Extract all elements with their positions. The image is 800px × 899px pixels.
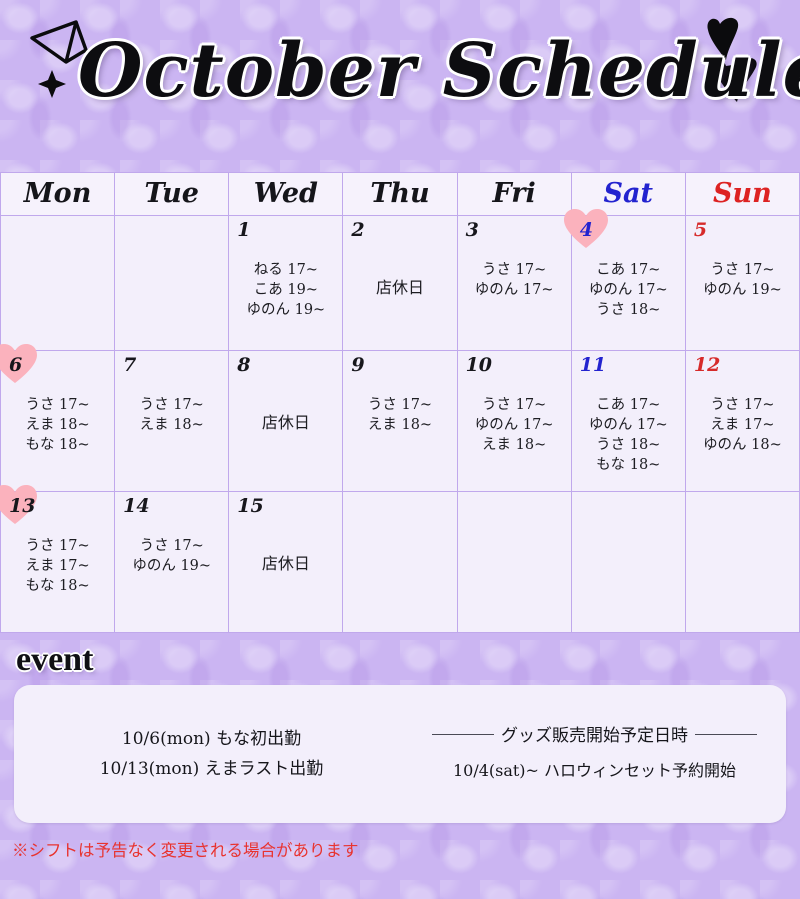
shift-entry: えま 18~: [458, 435, 571, 455]
calendar-week-row: 6うさ 17~えま 18~もな 18~7うさ 17~えま 18~8店休日9うさ …: [1, 351, 800, 492]
event-left-column: 10/6(mon) もな初出勤 10/13(mon) えまラスト出勤: [14, 724, 403, 784]
shift-entry: うさ 17~: [115, 536, 228, 556]
calendar-empty-cell: [1, 216, 115, 351]
shift-entry: ゆのん 17~: [458, 415, 571, 435]
day-number: 4: [580, 220, 593, 240]
shift-entry: ゆのん 17~: [572, 280, 685, 300]
shift-entry: うさ 17~: [115, 395, 228, 415]
shift-entry: うさ 17~: [343, 395, 456, 415]
rule-right-icon: [695, 734, 757, 735]
closed-text: 店休日: [229, 413, 342, 433]
shift-entry: こあ 17~: [572, 260, 685, 280]
shift-entry: ゆのん 17~: [458, 280, 571, 300]
day-header-mon: Mon: [1, 173, 115, 216]
shift-entry: うさ 17~: [1, 395, 114, 415]
shift-entry-list: こあ 17~ゆのん 17~うさ 18~もな 18~: [572, 395, 685, 475]
calendar-empty-cell: [115, 216, 229, 351]
day-number: 2: [351, 220, 364, 240]
header: October Schedule: [0, 0, 800, 172]
shift-entry: ゆのん 19~: [686, 280, 799, 300]
calendar-day-cell[interactable]: 14うさ 17~ゆのん 19~: [115, 492, 229, 633]
shift-entry: こあ 19~: [229, 280, 342, 300]
day-number: 12: [694, 355, 720, 375]
calendar-body: 1ねる 17~こあ 19~ゆのん 19~2店休日3うさ 17~ゆのん 17~4こ…: [1, 216, 800, 633]
calendar-week-row: 13うさ 17~えま 17~もな 18~14うさ 17~ゆのん 19~15店休日: [1, 492, 800, 633]
day-number: 6: [9, 355, 22, 375]
shift-entry: うさ 17~: [686, 260, 799, 280]
calendar-day-cell[interactable]: 8店休日: [229, 351, 343, 492]
shift-entry: ゆのん 17~: [572, 415, 685, 435]
shift-entry: うさ 18~: [572, 300, 685, 320]
day-number: 9: [351, 355, 364, 375]
day-number: 13: [9, 496, 35, 516]
shift-entry: もな 18~: [1, 435, 114, 455]
event-line-2: 10/13(mon) えまラスト出勤: [20, 754, 403, 784]
day-number: 11: [580, 355, 606, 375]
closed-text: 店休日: [229, 554, 342, 574]
shift-entry: ねる 17~: [229, 260, 342, 280]
event-box: 10/6(mon) もな初出勤 10/13(mon) えまラスト出勤 グッズ販売…: [14, 685, 786, 823]
calendar-empty-cell: [571, 492, 685, 633]
calendar-day-cell[interactable]: 12うさ 17~えま 17~ゆのん 18~: [685, 351, 799, 492]
shift-entry-list: うさ 17~えま 18~: [115, 395, 228, 435]
event-line-1: 10/6(mon) もな初出勤: [20, 724, 403, 754]
calendar-day-cell[interactable]: 11こあ 17~ゆのん 17~うさ 18~もな 18~: [571, 351, 685, 492]
shift-entry: うさ 17~: [1, 536, 114, 556]
shift-entry-list: うさ 17~ゆのん 17~えま 18~: [458, 395, 571, 455]
day-header-tue: Tue: [115, 173, 229, 216]
day-number: 1: [237, 220, 250, 240]
shift-entry: もな 18~: [1, 576, 114, 596]
calendar-day-cell[interactable]: 6うさ 17~えま 18~もな 18~: [1, 351, 115, 492]
schedule-calendar: Mon Tue Wed Thu Fri Sat Sun 1ねる 17~こあ 19…: [0, 172, 800, 633]
calendar-week-row: 1ねる 17~こあ 19~ゆのん 19~2店休日3うさ 17~ゆのん 17~4こ…: [1, 216, 800, 351]
goods-column: グッズ販売開始予定日時 10/4(sat)~ ハロウィンセット予約開始: [403, 722, 786, 786]
day-header-fri: Fri: [457, 173, 571, 216]
shift-entry-list: こあ 17~ゆのん 17~うさ 18~: [572, 260, 685, 320]
shift-entry-list: うさ 17~ゆのん 17~: [458, 260, 571, 300]
shift-entry: ゆのん 19~: [229, 300, 342, 320]
goods-title-text: グッズ販売開始予定日時: [501, 726, 688, 746]
shift-entry-list: うさ 17~えま 17~ゆのん 18~: [686, 395, 799, 455]
shift-entry: もな 18~: [572, 455, 685, 475]
day-number: 3: [466, 220, 479, 240]
shift-entry: うさ 17~: [458, 260, 571, 280]
shift-entry-list: うさ 17~えま 18~もな 18~: [1, 395, 114, 455]
day-header-thu: Thu: [343, 173, 457, 216]
shift-entry: うさ 17~: [686, 395, 799, 415]
shift-entry: えま 18~: [115, 415, 228, 435]
shift-entry: こあ 17~: [572, 395, 685, 415]
calendar-day-cell[interactable]: 13うさ 17~えま 17~もな 18~: [1, 492, 115, 633]
shift-entry-list: ねる 17~こあ 19~ゆのん 19~: [229, 260, 342, 320]
schedule-page: October Schedule Mon Tue Wed Thu Fri Sat…: [0, 0, 800, 899]
day-number: 10: [466, 355, 492, 375]
schedule-change-notice: ※シフトは予告なく変更される場合があります: [12, 837, 800, 861]
shift-entry: うさ 18~: [572, 435, 685, 455]
shift-entry: えま 18~: [343, 415, 456, 435]
shift-entry: うさ 17~: [458, 395, 571, 415]
closed-text: 店休日: [343, 278, 456, 298]
calendar-day-cell[interactable]: 4こあ 17~ゆのん 17~うさ 18~: [571, 216, 685, 351]
page-title: October Schedule: [78, 34, 728, 108]
goods-title-row: グッズ販売開始予定日時: [403, 722, 786, 750]
calendar-day-cell[interactable]: 2店休日: [343, 216, 457, 351]
calendar-day-cell[interactable]: 15店休日: [229, 492, 343, 633]
shift-entry: えま 18~: [1, 415, 114, 435]
shift-entry: えま 17~: [686, 415, 799, 435]
shift-entry: ゆのん 19~: [115, 556, 228, 576]
calendar-empty-cell: [343, 492, 457, 633]
shift-entry-list: うさ 17~えま 17~もな 18~: [1, 536, 114, 596]
day-header-wed: Wed: [229, 173, 343, 216]
calendar-day-cell[interactable]: 3うさ 17~ゆのん 17~: [457, 216, 571, 351]
calendar-empty-cell: [685, 492, 799, 633]
day-number: 15: [237, 496, 263, 516]
day-number: 8: [237, 355, 250, 375]
day-number: 5: [694, 220, 707, 240]
day-header-sun: Sun: [685, 173, 799, 216]
calendar-day-cell[interactable]: 10うさ 17~ゆのん 17~えま 18~: [457, 351, 571, 492]
day-number: 14: [123, 496, 149, 516]
event-heading: event: [16, 641, 93, 679]
shift-entry-list: うさ 17~ゆのん 19~: [686, 260, 799, 300]
shift-entry-list: うさ 17~ゆのん 19~: [115, 536, 228, 576]
small-sparkle-icon: [36, 68, 68, 105]
calendar-header-row: Mon Tue Wed Thu Fri Sat Sun: [1, 173, 800, 216]
closed-label: 店休日: [229, 554, 342, 574]
closed-label: 店休日: [343, 278, 456, 298]
calendar-day-cell[interactable]: 5うさ 17~ゆのん 19~: [685, 216, 799, 351]
goods-detail: 10/4(sat)~ ハロウィンセット予約開始: [403, 756, 786, 786]
shift-entry: えま 17~: [1, 556, 114, 576]
day-number: 7: [123, 355, 136, 375]
event-section: event 10/6(mon) もな初出勤 10/13(mon) えまラスト出勤…: [0, 633, 800, 861]
shift-entry: ゆのん 18~: [686, 435, 799, 455]
calendar-day-cell[interactable]: 1ねる 17~こあ 19~ゆのん 19~: [229, 216, 343, 351]
shift-entry-list: うさ 17~えま 18~: [343, 395, 456, 435]
calendar-day-cell[interactable]: 9うさ 17~えま 18~: [343, 351, 457, 492]
calendar-empty-cell: [457, 492, 571, 633]
rule-left-icon: [432, 734, 494, 735]
closed-label: 店休日: [229, 413, 342, 433]
calendar-day-cell[interactable]: 7うさ 17~えま 18~: [115, 351, 229, 492]
